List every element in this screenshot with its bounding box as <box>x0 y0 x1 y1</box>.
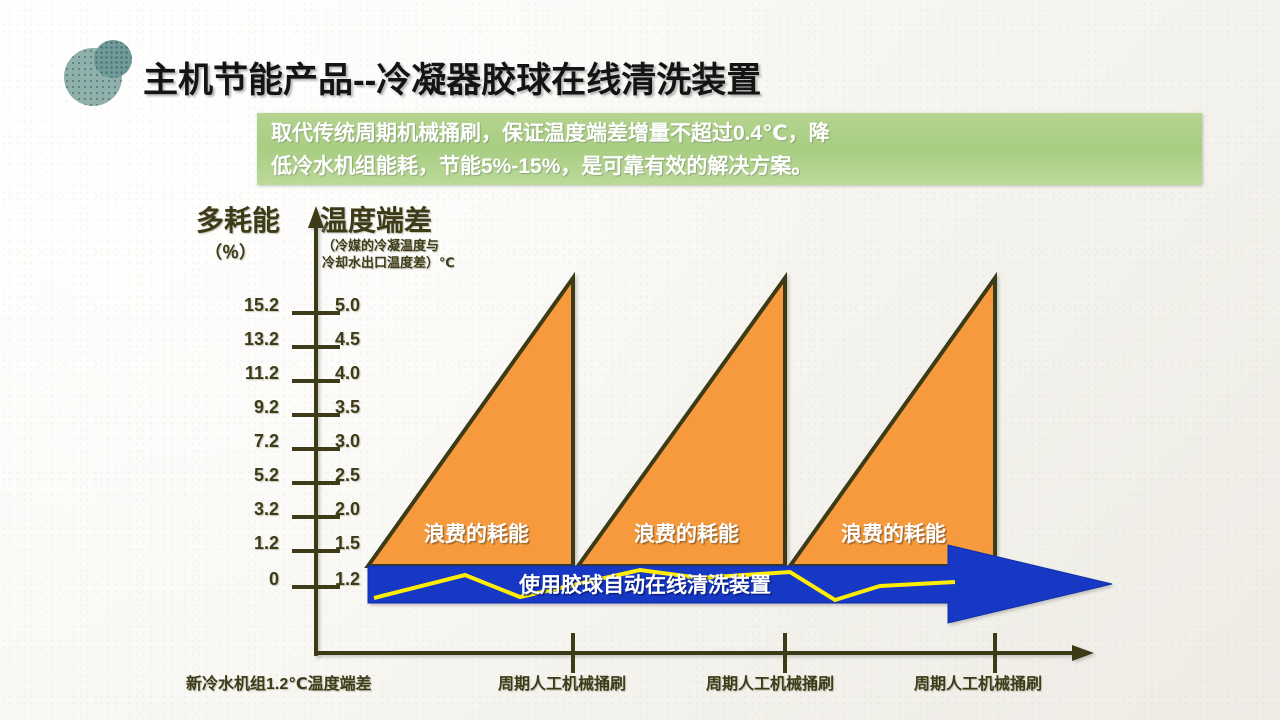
x-axis-label-0: 新冷水机组1.2℃温度端差 <box>186 670 372 694</box>
x-axis-label-3: 周期人工机械捅刷 <box>914 670 1042 694</box>
x-axis-label-2: 周期人工机械捅刷 <box>706 670 834 694</box>
waste-label-1: 浪费的耗能 <box>424 518 529 548</box>
energy-waste-chart: 多耗能 （％） 温度端差 （冷媒的冷凝温度与 冷却水出口温度差）℃ 15.2 1… <box>0 0 1280 720</box>
chart-canvas <box>0 0 1280 720</box>
x-axis <box>316 645 1094 661</box>
waste-label-2: 浪费的耗能 <box>634 518 739 548</box>
x-axis-label-1: 周期人工机械捅刷 <box>498 670 626 694</box>
cleaning-device-label: 使用胶球自动在线清洗装置 <box>519 569 771 599</box>
waste-label-3: 浪费的耗能 <box>841 518 946 548</box>
slide-root: 主机节能产品--冷凝器胶球在线清洗装置 取代传统周期机械捅刷，保证温度端差增量不… <box>0 0 1280 720</box>
